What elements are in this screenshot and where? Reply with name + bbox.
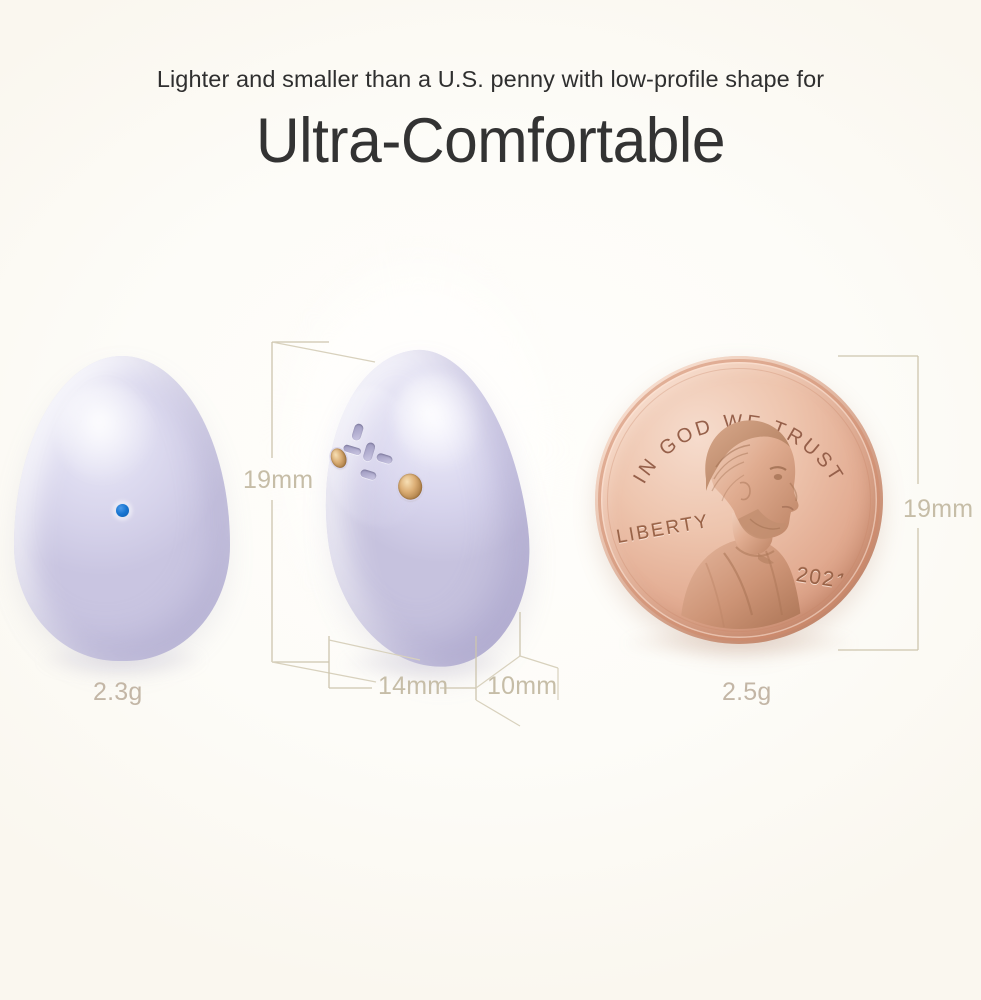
weight-label-penny: 2.5g <box>722 678 771 706</box>
page-title: Ultra-Comfortable <box>20 104 962 178</box>
dimension-label-depth: 10mm <box>487 672 557 700</box>
penny-face: IN GOD WE TRUST <box>610 371 868 629</box>
product-comparison-penny: IN GOD WE TRUST <box>595 356 883 644</box>
headline-block: Lighter and smaller than a U.S. penny wi… <box>0 64 981 178</box>
product-earbud-front <box>14 356 230 661</box>
weight-label-device: 2.3g <box>93 678 142 706</box>
dimension-label-penny-diameter: 19mm <box>903 495 973 523</box>
dimension-label-height: 19mm <box>243 466 313 494</box>
penny-disc: IN GOD WE TRUST <box>595 356 883 644</box>
subheadline-text: Lighter and smaller than a U.S. penny wi… <box>0 64 981 94</box>
dimension-label-width: 14mm <box>378 672 448 700</box>
earbud-angled-body <box>306 339 543 679</box>
specular-highlight <box>57 383 156 484</box>
product-earbud-angled <box>325 350 525 668</box>
led-indicator-icon <box>116 504 129 517</box>
infographic-canvas: Lighter and smaller than a U.S. penny wi… <box>0 0 981 1000</box>
earbud-front-body <box>14 356 230 661</box>
